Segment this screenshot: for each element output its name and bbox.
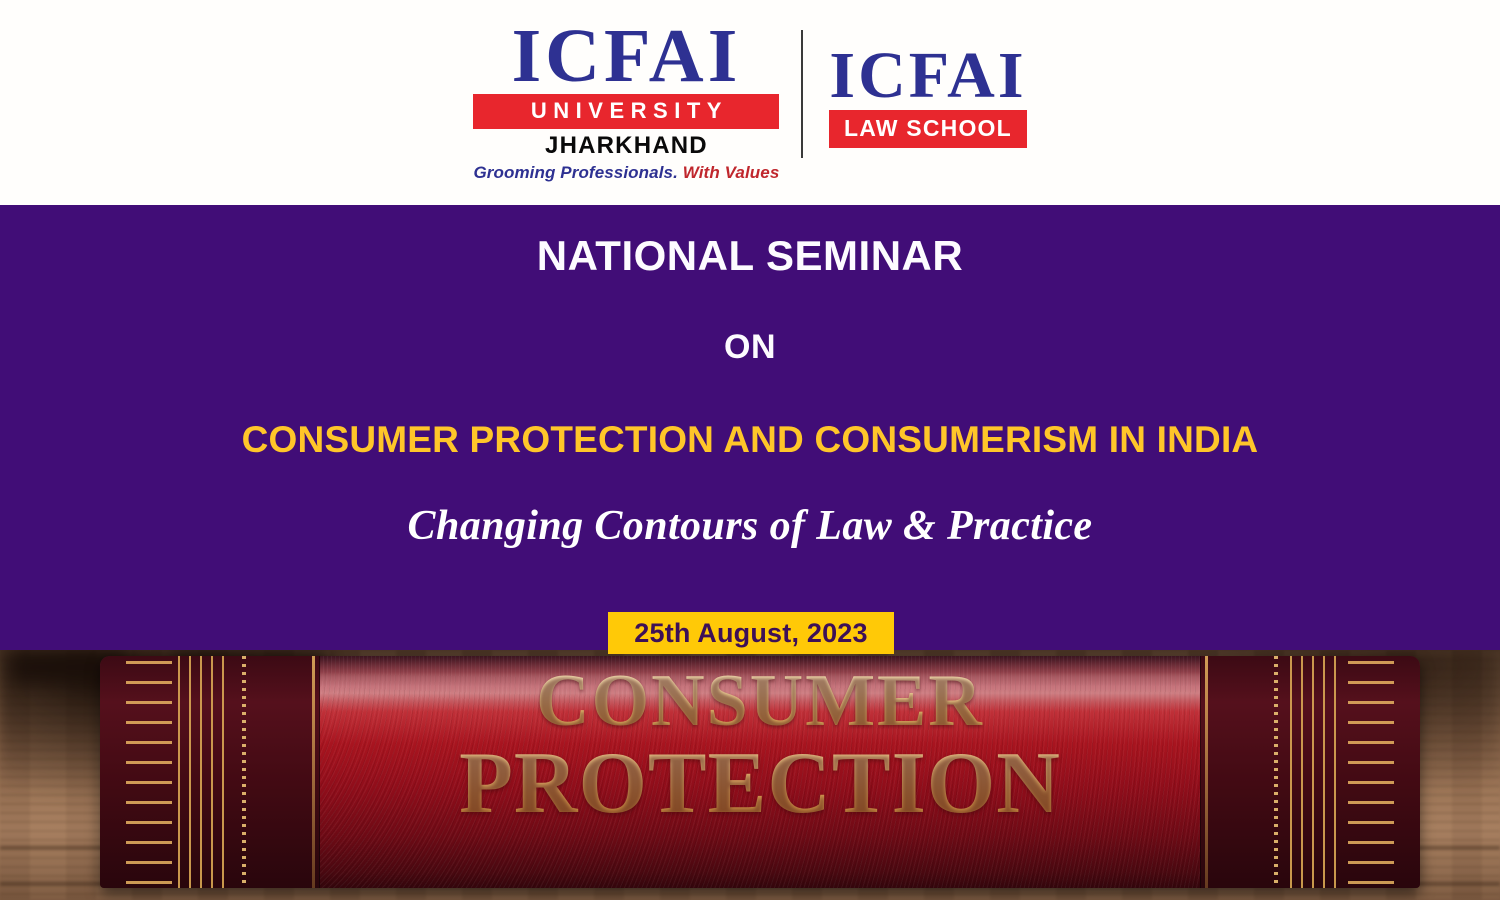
logo-header: ICFAI UNIVERSITY JHARKHAND Grooming Prof…	[0, 0, 1500, 205]
law-school-bar: LAW SCHOOL	[829, 110, 1026, 148]
date-badge-text: 25th August, 2023	[634, 618, 867, 649]
icfai-law-wordmark: ICFAI	[829, 46, 1026, 107]
icfai-university-logo: ICFAI UNIVERSITY JHARKHAND Grooming Prof…	[473, 22, 801, 183]
event-type-heading: NATIONAL SEMINAR	[0, 232, 1500, 280]
law-school-bar-label: LAW SCHOOL	[844, 115, 1012, 141]
seminar-subtitle: Changing Contours of Law & Practice	[0, 502, 1500, 550]
university-bar: UNIVERSITY	[473, 94, 779, 129]
gold-rule-lines	[178, 656, 230, 888]
seminar-topic-heading: CONSUMER PROTECTION AND CONSUMERISM IN I…	[0, 419, 1500, 461]
gold-rule-lines	[1290, 656, 1342, 888]
book-spine: CONSUMER PROTECTION	[100, 656, 1420, 888]
university-bar-label: UNIVERSITY	[525, 98, 728, 123]
gold-dot-line	[1274, 656, 1278, 888]
logo-divider	[801, 30, 803, 158]
gold-edge-line	[312, 656, 315, 888]
gold-fleur-pattern-icon	[126, 656, 172, 888]
logo-row: ICFAI UNIVERSITY JHARKHAND Grooming Prof…	[473, 22, 1026, 183]
icfai-law-school-logo: ICFAI LAW SCHOOL	[829, 46, 1026, 148]
book-decorative-band-left	[100, 656, 320, 888]
gold-dot-line	[242, 656, 246, 888]
date-badge: 25th August, 2023	[608, 612, 894, 654]
connector-text: ON	[0, 328, 1500, 367]
gold-fleur-pattern-icon	[1348, 656, 1394, 888]
tagline-secondary: With Values	[683, 163, 780, 182]
book-photo: CONSUMER PROTECTION	[0, 650, 1500, 900]
tagline-primary: Grooming Professionals.	[473, 163, 677, 182]
university-tagline: Grooming Professionals. With Values	[473, 163, 779, 183]
icfai-university-wordmark: ICFAI	[512, 22, 742, 92]
book-decorative-band-right	[1200, 656, 1420, 888]
seminar-poster: ICFAI UNIVERSITY JHARKHAND Grooming Prof…	[0, 0, 1500, 900]
university-location: JHARKHAND	[545, 132, 708, 160]
gold-edge-line	[1205, 656, 1208, 888]
